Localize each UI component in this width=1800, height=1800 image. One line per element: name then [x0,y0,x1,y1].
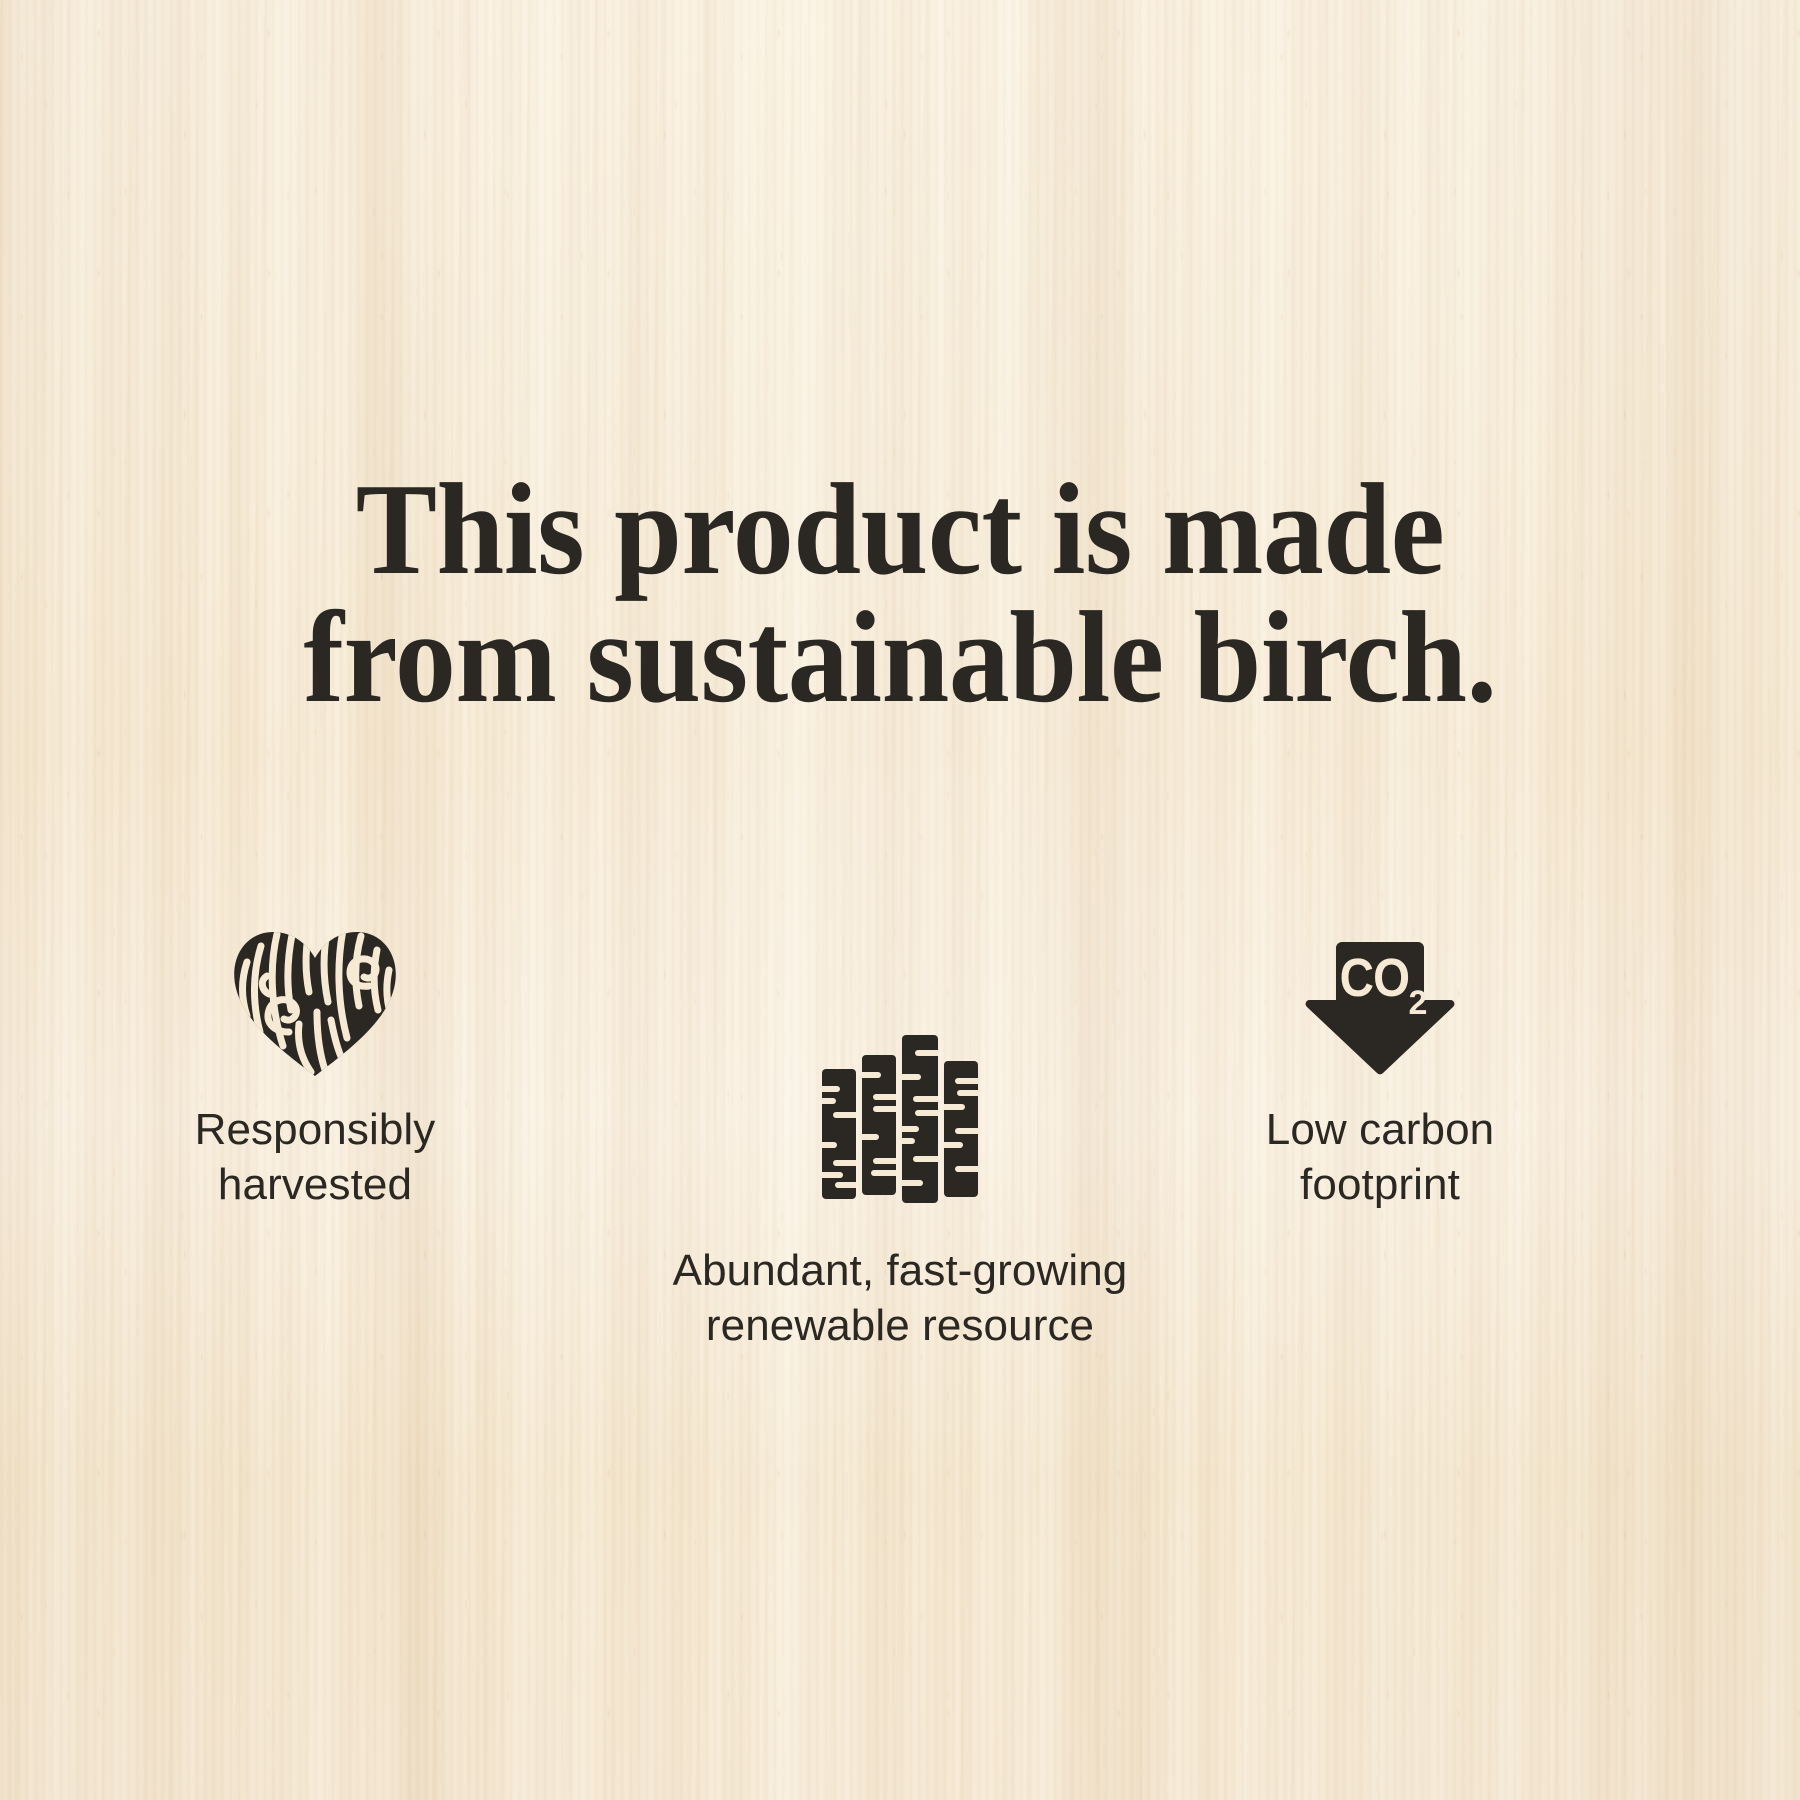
feature-label-line-1: Low carbon [1070,1102,1690,1157]
co2-down-arrow-icon: CO 2 [1304,938,1456,1078]
headline-line-2: from sustainable birch. [63,594,1737,722]
feature-responsibly-harvested: Responsibly harvested [105,928,525,1212]
feature-label-line-1: Abundant, fast-growing [590,1243,1210,1298]
birch-trunks-icon [820,1033,980,1205]
feature-label-line-2: renewable resource [590,1298,1210,1353]
co2-icon-subscript: 2 [1409,984,1428,1022]
feature-list: Responsibly harvested [0,800,1800,1440]
feature-label: Low carbon footprint [1070,1102,1690,1212]
feature-icon-slot [105,928,525,1078]
feature-label: Abundant, fast-growing renewable resourc… [590,1243,1210,1353]
co2-icon-label: CO [1340,947,1410,1008]
page-title: This product is made from sustainable bi… [63,466,1737,722]
feature-label-line-2: footprint [1070,1157,1690,1212]
headline-line-1: This product is made [63,466,1737,594]
feature-low-carbon-footprint: CO 2 Low carbon footprint [1070,910,1690,1212]
feature-label-line-1: Responsibly [105,1102,525,1157]
wood-grain-heart-icon [231,928,399,1078]
poster-content: This product is made from sustainable bi… [0,0,1800,1800]
sustainable-birch-poster: This product is made from sustainable bi… [0,0,1800,1800]
feature-label: Responsibly harvested [105,1102,525,1212]
feature-icon-slot: CO 2 [1070,910,1690,1078]
feature-label-line-2: harvested [105,1157,525,1212]
